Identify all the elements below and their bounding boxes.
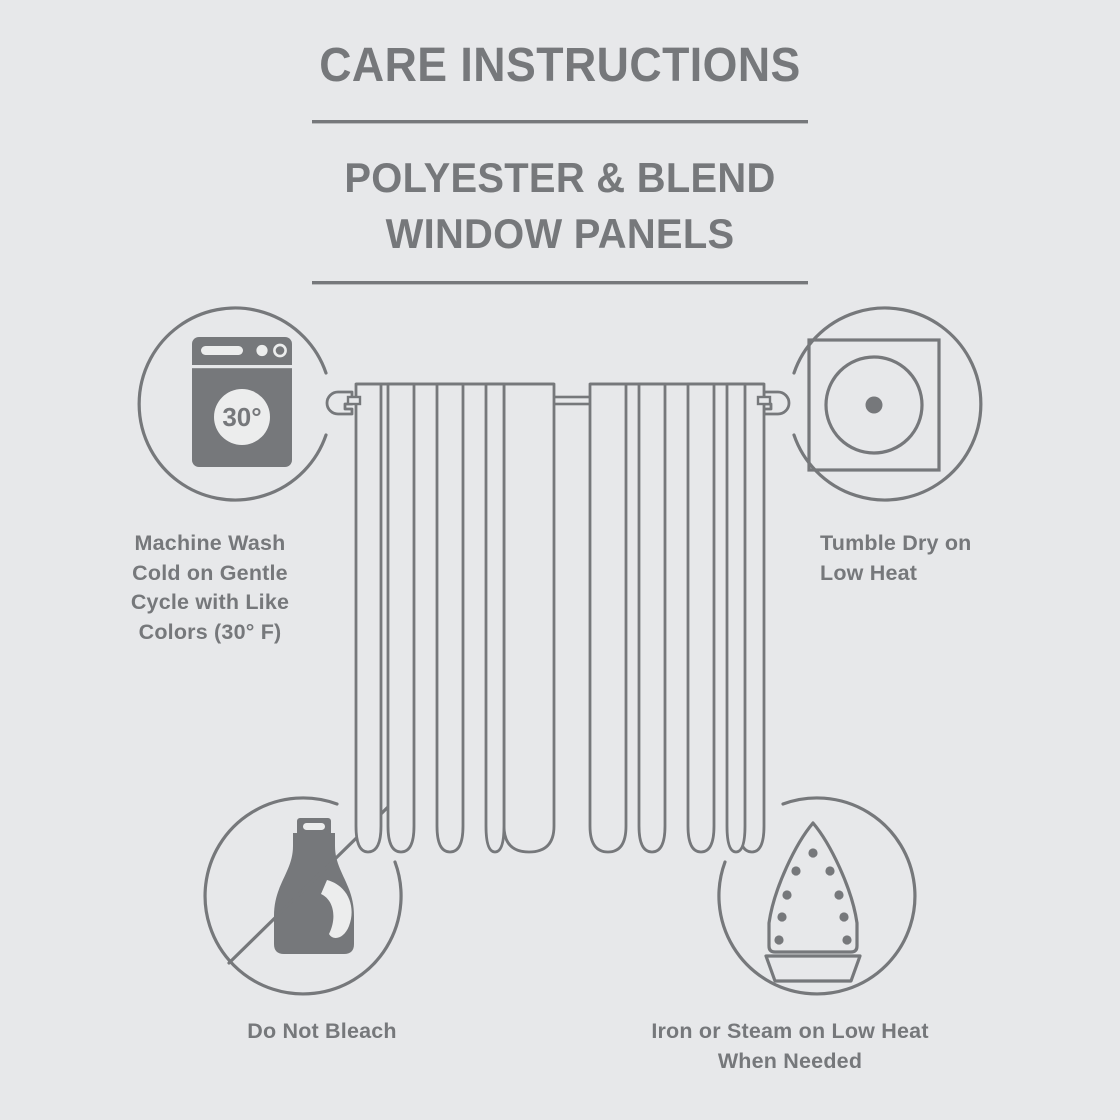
care-instructions-infographic: 30° CARE INSTRUCTIONS POLYESTER & BLEND … (0, 0, 1120, 1120)
iron-caption: Iron or Steam on Low Heat When Needed (600, 1017, 980, 1076)
page-subtitle: POLYESTER & BLEND WINDOW PANELS (28, 150, 1092, 262)
subtitle-line-1: POLYESTER & BLEND (28, 150, 1092, 206)
do-not-bleach-caption: Do Not Bleach (132, 1017, 512, 1047)
caption-line: Low Heat (820, 559, 1100, 589)
caption-line: Cold on Gentle (72, 559, 348, 589)
caption-line: When Needed (600, 1047, 980, 1077)
caption-line: Machine Wash (72, 529, 348, 559)
caption-line: Tumble Dry on (820, 529, 1100, 559)
tumble-dry-caption: Tumble Dry on Low Heat (820, 529, 1100, 588)
caption-line: Colors (30° F) (72, 618, 348, 648)
caption-line: Iron or Steam on Low Heat (600, 1017, 980, 1047)
page-title: CARE INSTRUCTIONS (39, 38, 1081, 95)
wash-temperature-badge: 30° (222, 402, 261, 432)
caption-line: Cycle with Like (72, 588, 348, 618)
machine-wash-caption: Machine Wash Cold on Gentle Cycle with L… (72, 529, 348, 648)
subtitle-line-2: WINDOW PANELS (28, 206, 1092, 262)
caption-line: Do Not Bleach (132, 1017, 512, 1047)
illustration-stage: 30° CARE INSTRUCTIONS POLYESTER & BLEND … (0, 0, 1120, 1120)
